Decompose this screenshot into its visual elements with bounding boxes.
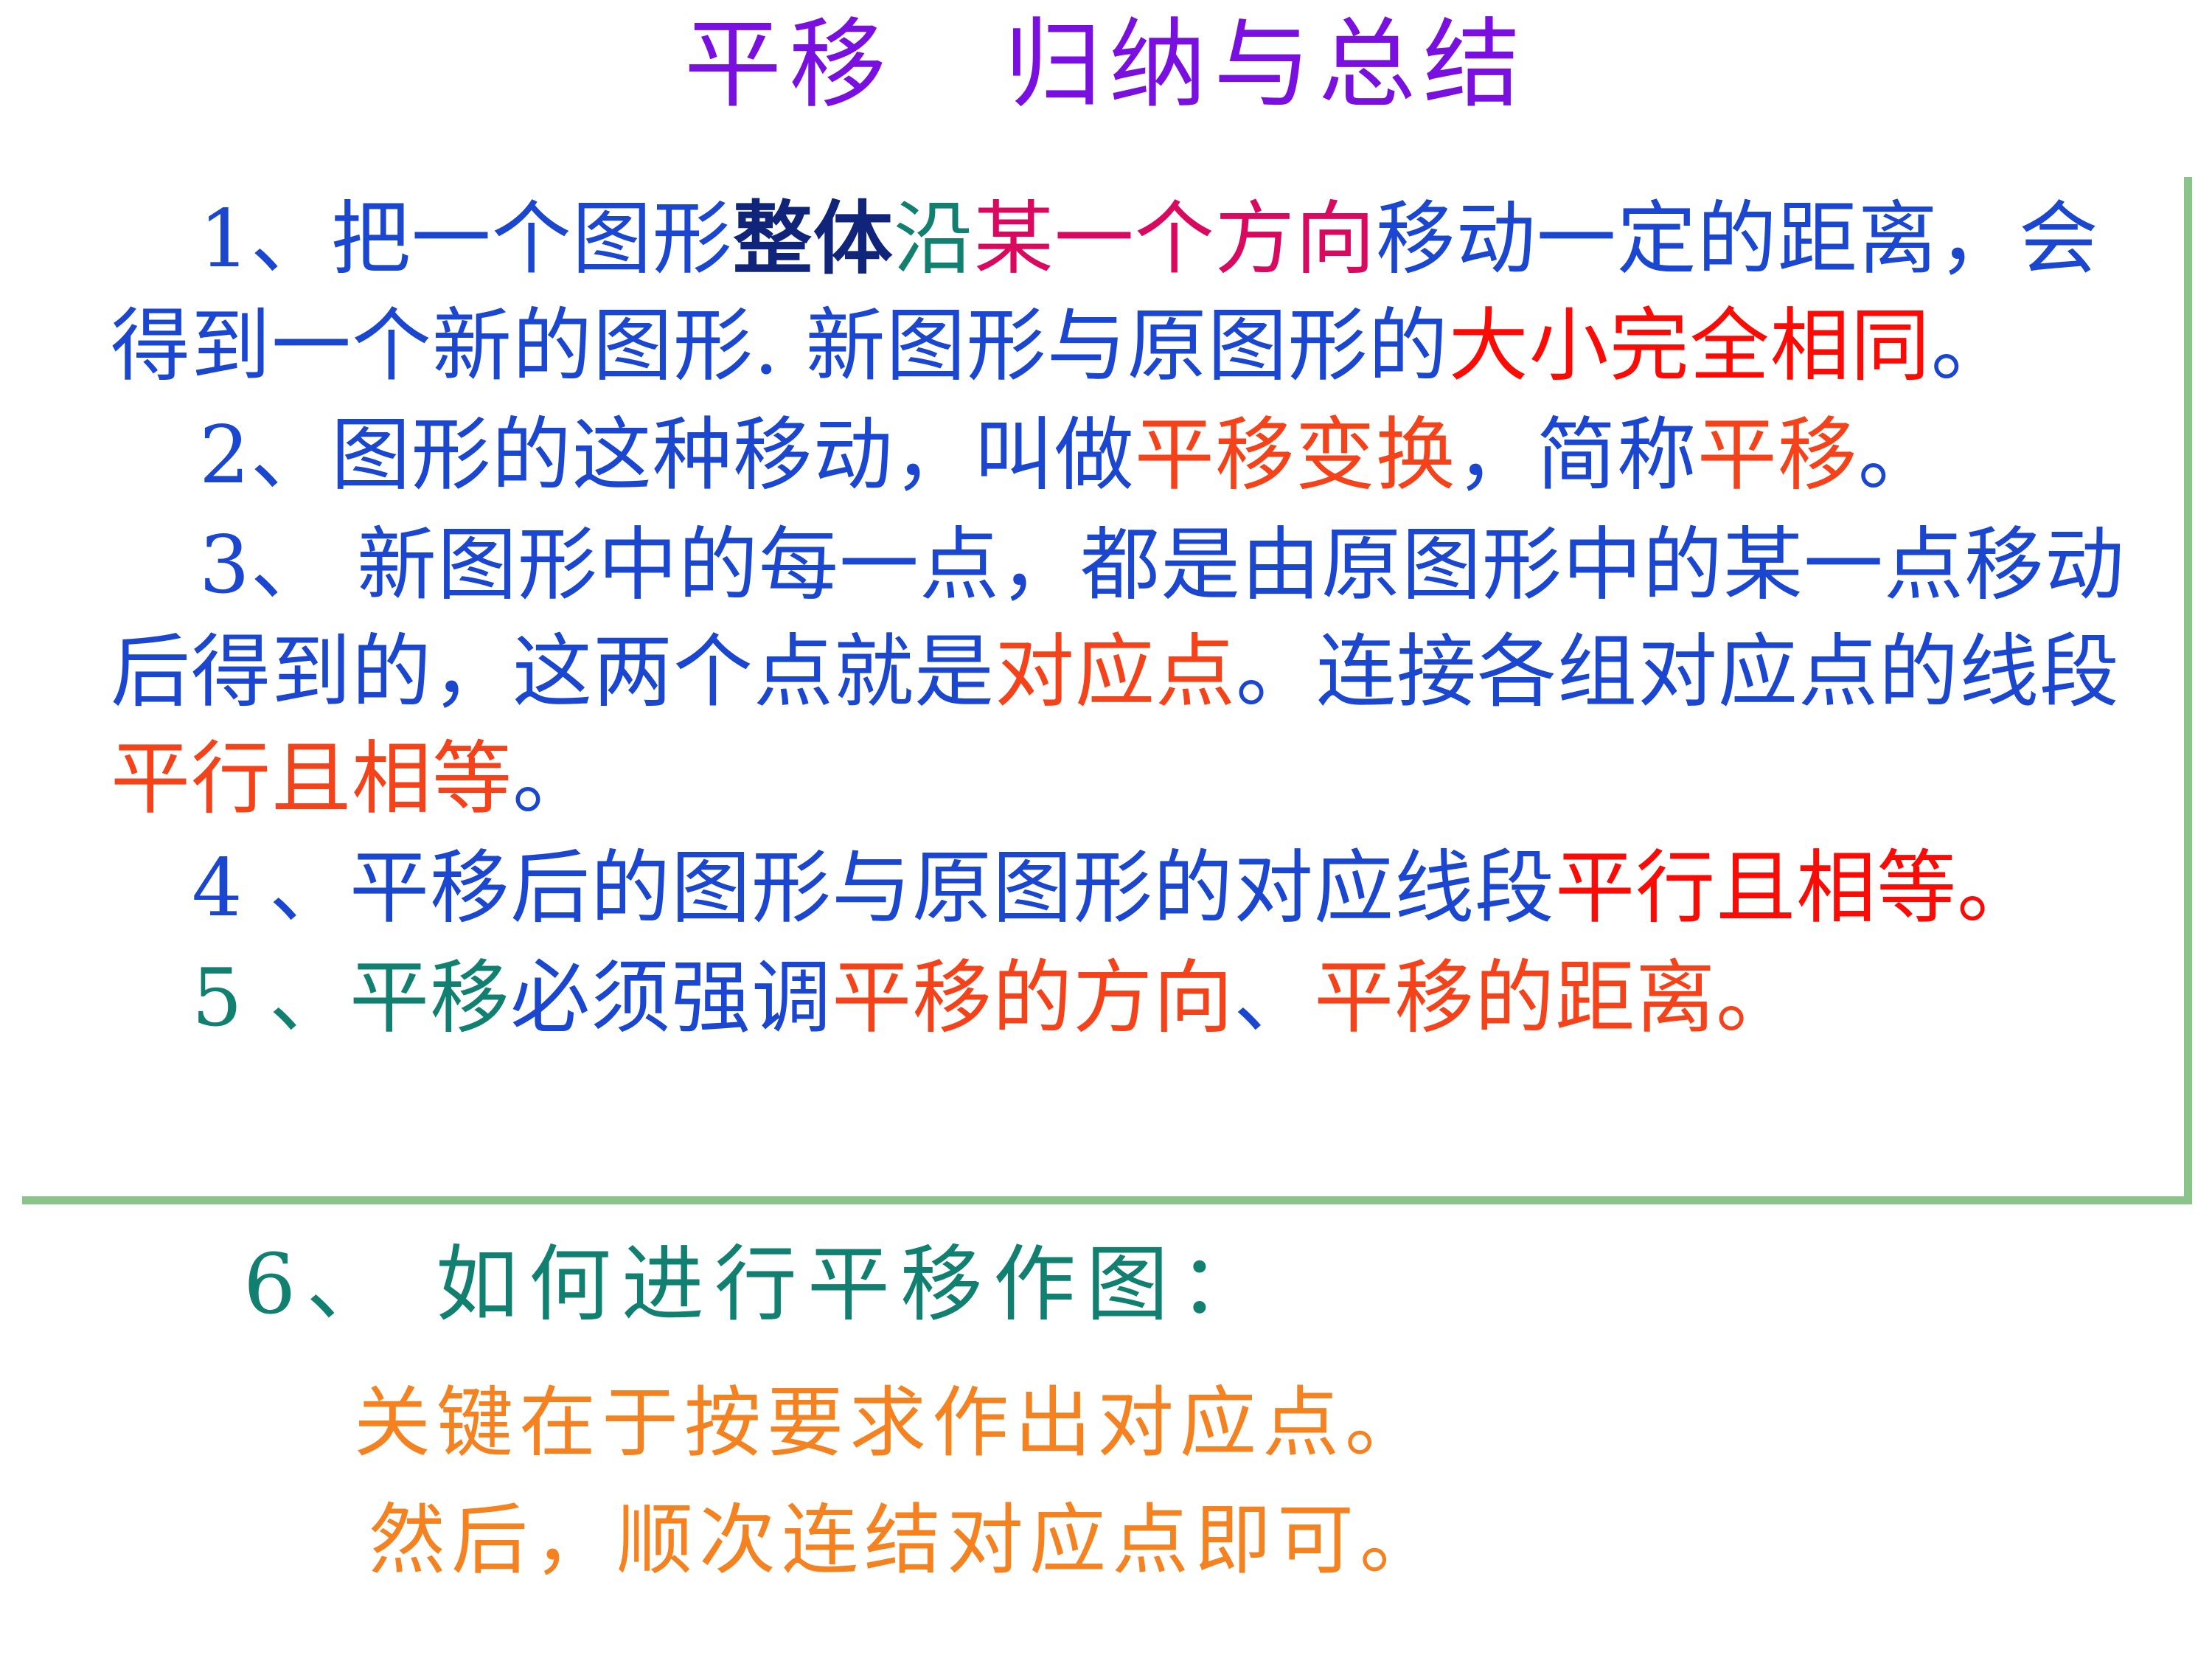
- list-item-2: 2、图形的这种移动，叫做平移变换，简称平移。: [111, 403, 2175, 510]
- item-3-number: 3、: [199, 519, 331, 611]
- item-1-seg-0: 把一个图形: [331, 193, 733, 285]
- title-part-2: 归纳与总结: [1004, 8, 1528, 122]
- list-item-1: 1、把一个图形整体沿某一个方向移动一定的距离，会得到一个新的图形. 新图形与原图…: [111, 186, 2168, 400]
- title-part-1: 平移: [684, 8, 894, 122]
- list-item-6: 6、 如何进行平移作图：: [111, 1233, 2175, 1336]
- item-3-seg-1: 对应点: [995, 626, 1236, 718]
- item-6-number: 6、: [243, 1237, 399, 1333]
- item-1-seg-6: 。: [1931, 300, 2011, 392]
- item-2-seg-3: 平移: [1697, 409, 1858, 502]
- item-3-seg-2: 。连接各组对应点的线段: [1236, 626, 2120, 718]
- item-2-seg-2: ，简称: [1456, 409, 1697, 502]
- list-item-4: 4 、平移后的图形与原图形的对应线段平行且相等。: [111, 836, 2175, 943]
- answer-line-1: 关键在于按要求作出对应点。: [111, 1373, 2175, 1473]
- divider-horizontal-green: [22, 1196, 2192, 1204]
- item-5-seg-1: 必须强调: [510, 952, 832, 1044]
- construction-steps-block: 6、 如何进行平移作图： 关键在于按要求作出对应点。 然后，顺次连结对应点即可。: [111, 1233, 2175, 1590]
- item-3-seg-3: 平行且相等: [111, 733, 512, 825]
- item-5-seg-2: 平移的方向: [832, 952, 1234, 1044]
- slide-canvas: 平移归纳与总结 1、把一个图形整体沿某一个方向移动一定的距离，会得到一个新的图形…: [0, 0, 2212, 1658]
- item-2-seg-4: 。: [1858, 409, 1938, 502]
- item-2-seg-1: 平移变换: [1135, 409, 1456, 502]
- item-5-seg-4: 平移的距离。: [1314, 952, 1796, 1044]
- item-4-number: 4 、: [192, 842, 349, 934]
- item-2-seg-0: 图形的这种移动，叫做: [331, 409, 1135, 502]
- item-2-number: 2、: [199, 409, 331, 502]
- item-1-seg-5: 大小完全相同: [1449, 300, 1931, 392]
- item-5-seg-3: 、: [1234, 952, 1314, 1044]
- item-1-seg-2: 沿: [894, 193, 974, 285]
- page-title: 平移归纳与总结: [0, 16, 2212, 114]
- item-5-number: 5 、: [192, 952, 349, 1044]
- item-1-seg-1: 整体: [733, 192, 894, 285]
- item-4-seg-0: 平移后的图形与原图形的对应线段: [349, 842, 1555, 934]
- item-3-seg-4: 。: [512, 733, 593, 825]
- item-1-number: 1、: [199, 193, 331, 285]
- item-4-seg-1: 平行且相等。: [1555, 842, 2037, 934]
- summary-points-list: 1、把一个图形整体沿某一个方向移动一定的距离，会得到一个新的图形. 新图形与原图…: [111, 186, 2175, 1055]
- list-item-5: 5 、平移必须强调平移的方向、平移的距离。: [111, 946, 2175, 1052]
- divider-vertical-green: [2184, 177, 2192, 1202]
- item-5-seg-0: 平移: [349, 952, 510, 1044]
- answer-line-2: 然后，顺次连结对应点即可。: [111, 1491, 2175, 1590]
- item-1-seg-3: 某一个方向: [974, 193, 1376, 285]
- item-6-text: 如何进行平移作图：: [399, 1237, 1272, 1333]
- list-item-3: 3、 新图形中的每一点，都是由原图形中的某一点移动后得到的，这两个点就是对应点。…: [111, 513, 2175, 833]
